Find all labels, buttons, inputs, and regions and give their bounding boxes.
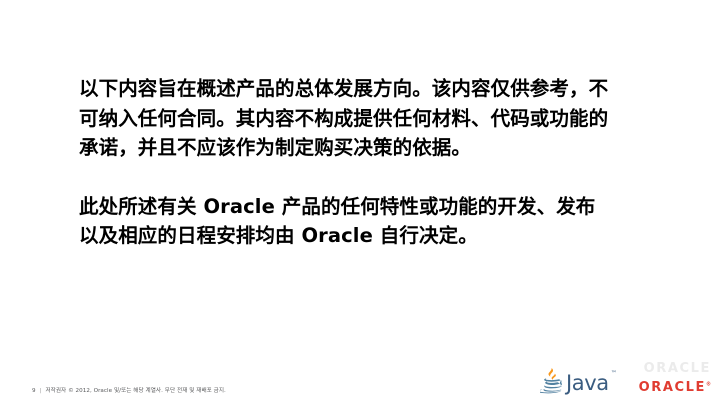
java-coffee-cup-icon: [540, 367, 564, 397]
java-logo: Java ™: [540, 367, 617, 397]
safe-harbor-paragraph-1: 以下内容旨在概述产品的总体发展方向。该内容仅供参考，不可纳入任何合同。其内容不构…: [79, 74, 609, 163]
java-trademark-symbol: ™: [611, 370, 617, 377]
slide-canvas: 以下内容旨在概述产品的总体发展方向。该内容仅供参考，不可纳入任何合同。其内容不构…: [0, 0, 720, 405]
oracle-logo-text: ORACLE: [639, 380, 706, 395]
oracle-logo-watermark: ORACLE: [644, 362, 711, 375]
copyright-notice: 저작권자 © 2012, Oracle 및/또는 해당 계열사. 무단 전재 및…: [45, 386, 225, 394]
safe-harbor-paragraph-2: 此处所述有关 Oracle 产品的任何特性或功能的开发、发布以及相应的日程安排均…: [79, 192, 609, 251]
java-wordmark: Java: [566, 373, 609, 394]
slide-body: 以下内容旨在概述产品的总体发展方向。该内容仅供参考，不可纳入任何合同。其内容不构…: [79, 74, 609, 251]
oracle-logo: ORACLE®: [639, 381, 711, 394]
slide-number: 9: [32, 388, 36, 394]
slide-footer: 9 | 저작권자 © 2012, Oracle 및/또는 해당 계열사. 무단 …: [32, 386, 226, 394]
footer-separator: |: [40, 388, 42, 394]
oracle-registered-symbol: ®: [706, 382, 711, 388]
